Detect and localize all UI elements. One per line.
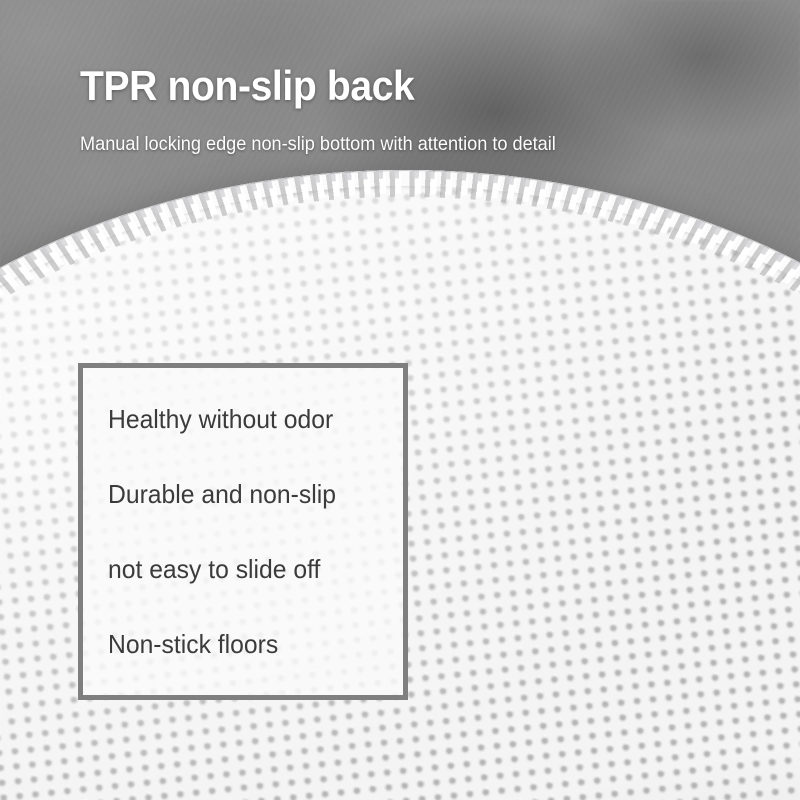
feature-line: Healthy without odor (108, 382, 388, 457)
feature-line: not easy to slide off (108, 532, 388, 607)
feature-callout-box: Healthy without odor Durable and non-sli… (78, 363, 408, 700)
page-title: TPR non-slip back (80, 62, 414, 110)
feature-line: Non-stick floors (108, 607, 388, 682)
page-subtitle: Manual locking edge non-slip bottom with… (80, 133, 556, 156)
feature-line: Durable and non-slip (108, 457, 388, 532)
product-marketing-image: TPR non-slip back Manual locking edge no… (0, 0, 800, 800)
